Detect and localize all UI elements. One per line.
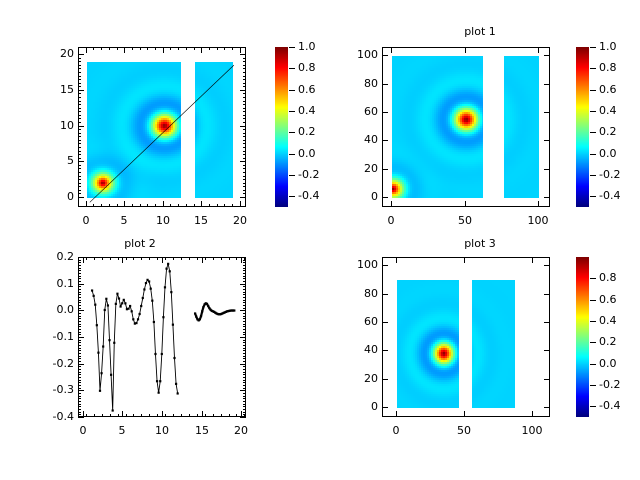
panel-top-right-colorbar <box>576 47 589 207</box>
axis-tick <box>78 286 81 287</box>
axis-tick <box>78 321 81 322</box>
axis-tick <box>78 401 81 402</box>
axis-tick <box>170 204 171 207</box>
tick-label: 0 <box>34 191 74 202</box>
tick-label: 0 <box>338 191 378 202</box>
axis-tick <box>532 411 533 417</box>
axis-tick <box>78 393 81 394</box>
axis-tick <box>78 76 81 77</box>
data-point-marker <box>153 321 155 323</box>
axis-tick <box>465 47 466 53</box>
axis-tick <box>78 47 79 50</box>
axis-tick <box>102 257 103 260</box>
axis-tick <box>590 47 596 48</box>
axis-tick <box>109 204 110 207</box>
colorbar-tick-label: 0.0 <box>599 358 617 369</box>
tick-label: 20 <box>221 425 261 436</box>
data-point-marker <box>161 353 163 355</box>
axis-tick <box>544 197 550 198</box>
axis-tick <box>243 72 246 73</box>
axis-tick <box>140 204 141 207</box>
axis-tick <box>78 364 81 365</box>
axis-tick <box>243 364 246 365</box>
axis-tick <box>243 165 246 166</box>
axis-tick <box>213 257 214 260</box>
axis-tick <box>78 396 81 397</box>
data-point-marker <box>140 305 142 307</box>
tick-label: 0 <box>371 215 411 226</box>
tick-label: 10 <box>143 215 183 226</box>
axis-tick <box>110 257 111 260</box>
tick-label: 5 <box>34 155 74 166</box>
axis-tick <box>243 380 246 381</box>
tick-label: 0.1 <box>34 278 74 289</box>
data-point-marker <box>200 315 202 317</box>
axis-tick <box>240 204 241 207</box>
axis-tick <box>78 404 81 405</box>
axis-tick <box>243 111 246 112</box>
axis-tick <box>243 308 246 309</box>
data-point-marker <box>112 409 114 411</box>
axis-tick <box>78 257 81 258</box>
axis-tick <box>78 140 81 141</box>
data-point-marker <box>145 282 147 284</box>
colorbar-tick-label: 0.4 <box>599 105 617 116</box>
axis-tick <box>243 324 246 325</box>
axis-tick <box>133 257 134 260</box>
axis-tick <box>78 97 81 98</box>
colorbar-tick-label: 1.0 <box>298 41 316 52</box>
colorbar-tick-label: -0.4 <box>599 190 620 201</box>
axis-tick <box>243 374 246 375</box>
colorbar-tick-label: 0.8 <box>599 272 617 283</box>
axis-tick <box>155 47 156 50</box>
data-point-marker <box>206 303 208 305</box>
axis-tick <box>243 318 246 319</box>
colorbar-tick-label: 0.2 <box>599 126 617 137</box>
axis-tick <box>202 257 203 263</box>
axis-tick <box>243 262 246 263</box>
data-point-marker <box>177 392 179 394</box>
axis-tick <box>243 401 246 402</box>
data-point-marker <box>202 306 204 308</box>
axis-tick <box>78 398 81 399</box>
axis-tick <box>243 115 246 116</box>
tick-label: 80 <box>338 78 378 89</box>
axis-tick <box>78 284 81 285</box>
axis-tick <box>590 90 596 91</box>
axis-tick <box>243 361 246 362</box>
axis-tick <box>243 329 246 330</box>
axis-tick <box>78 316 81 317</box>
axis-tick <box>133 414 134 417</box>
axis-tick <box>243 61 246 62</box>
panel-bottom-left-lines <box>79 258 246 417</box>
data-point-marker <box>96 324 98 326</box>
axis-tick <box>243 393 246 394</box>
axis-tick <box>243 313 246 314</box>
axis-tick <box>170 47 171 50</box>
axis-tick <box>78 151 81 152</box>
data-point-marker <box>121 302 123 304</box>
axis-tick <box>78 374 81 375</box>
axis-tick <box>78 161 81 162</box>
axis-tick <box>78 292 81 293</box>
axis-tick <box>590 321 596 322</box>
axis-tick <box>243 406 246 407</box>
axis-tick <box>391 201 392 207</box>
axis-tick <box>217 204 218 207</box>
data-point-marker <box>173 357 175 359</box>
axis-tick <box>382 55 388 56</box>
data-point-marker <box>167 263 169 265</box>
tick-label: -0.1 <box>34 331 74 342</box>
data-point-marker <box>150 288 152 290</box>
panel-top-right: plot 1 050100020406080100 1.00.80.60.40.… <box>320 0 640 240</box>
axis-tick <box>590 342 596 343</box>
axis-tick <box>78 366 81 367</box>
panel-top-right-overlay <box>383 48 550 207</box>
data-point-marker <box>115 303 117 305</box>
axis-tick <box>289 196 295 197</box>
tick-label: 10 <box>142 425 182 436</box>
colorbar-tick-label: 0.4 <box>298 105 316 116</box>
data-line <box>90 65 234 202</box>
axis-tick <box>243 93 246 94</box>
axis-tick <box>243 183 246 184</box>
data-point-marker <box>131 310 133 312</box>
axis-tick <box>221 257 222 260</box>
axis-tick <box>243 350 246 351</box>
axis-tick <box>78 197 81 198</box>
axis-tick <box>78 58 81 59</box>
axis-tick <box>78 115 81 116</box>
data-point-marker <box>233 309 235 311</box>
axis-tick <box>117 204 118 207</box>
axis-tick <box>243 68 246 69</box>
tick-label: 0 <box>63 425 103 436</box>
axis-tick <box>243 270 246 271</box>
tick-label: 40 <box>338 344 378 355</box>
axis-tick <box>173 414 174 417</box>
axis-tick <box>110 414 111 417</box>
axis-tick <box>243 257 246 258</box>
tick-label: 0.0 <box>34 304 74 315</box>
axis-tick <box>532 257 533 263</box>
axis-tick <box>78 262 81 263</box>
data-point-marker <box>164 286 166 288</box>
axis-tick <box>243 358 246 359</box>
axis-tick <box>78 406 81 407</box>
axis-tick <box>78 176 81 177</box>
axis-tick <box>78 158 81 159</box>
axis-tick <box>189 414 190 417</box>
data-point-marker <box>143 288 145 290</box>
panel-top-right-frame <box>382 47 550 207</box>
axis-tick <box>243 316 246 317</box>
axis-tick <box>94 257 95 260</box>
axis-tick <box>86 47 87 50</box>
figure-canvas: 0510152005101520 1.00.80.60.40.20.0-0.2-… <box>0 0 640 480</box>
data-point-marker <box>154 353 156 355</box>
panel-top-left-colorbar-gradient <box>275 47 288 207</box>
panel-bottom-right-colorbar <box>576 257 589 417</box>
axis-tick <box>544 112 550 113</box>
axis-tick <box>78 281 81 282</box>
axis-tick <box>86 204 87 207</box>
axis-tick <box>78 79 81 80</box>
axis-tick <box>590 68 596 69</box>
tick-label: 15 <box>34 84 74 95</box>
panel-bottom-right-overlay <box>383 258 550 417</box>
axis-tick <box>243 104 246 105</box>
axis-tick <box>590 154 596 155</box>
axis-tick <box>391 47 392 53</box>
data-point-marker <box>158 392 160 394</box>
axis-tick <box>118 414 119 417</box>
axis-tick <box>382 197 388 198</box>
axis-tick <box>243 101 246 102</box>
data-point-marker <box>97 352 99 354</box>
axis-tick <box>243 332 246 333</box>
axis-tick <box>78 356 81 357</box>
axis-tick <box>243 151 246 152</box>
axis-tick <box>109 47 110 50</box>
colorbar-tick-label: 0.8 <box>599 62 617 73</box>
colorbar-tick-label: 0.8 <box>298 62 316 73</box>
axis-tick <box>186 47 187 50</box>
axis-tick <box>78 190 81 191</box>
data-point-marker <box>194 312 196 314</box>
axis-tick <box>209 47 210 50</box>
axis-tick <box>186 204 187 207</box>
axis-tick <box>213 414 214 417</box>
axis-tick <box>289 90 295 91</box>
axis-tick <box>243 409 246 410</box>
axis-tick <box>243 278 246 279</box>
data-point-marker <box>94 304 96 306</box>
axis-tick <box>243 353 246 354</box>
data-point-marker <box>108 339 110 341</box>
tick-label: -0.3 <box>34 384 74 395</box>
axis-tick <box>78 68 81 69</box>
tick-label: -0.4 <box>34 411 74 422</box>
axis-tick <box>78 377 81 378</box>
data-point-marker <box>195 316 197 318</box>
axis-tick <box>544 294 550 295</box>
axis-tick <box>78 278 81 279</box>
axis-tick <box>396 411 397 417</box>
colorbar-tick-label: -0.4 <box>298 190 319 201</box>
axis-tick <box>243 334 246 335</box>
axis-tick <box>157 414 158 417</box>
data-point-marker <box>104 309 106 311</box>
tick-label: 5 <box>102 425 142 436</box>
axis-tick <box>149 414 150 417</box>
axis-tick <box>243 310 246 311</box>
data-point-marker <box>165 268 167 270</box>
tick-label: 50 <box>445 215 485 226</box>
axis-tick <box>78 273 81 274</box>
axis-tick <box>78 412 81 413</box>
axis-tick <box>165 257 166 260</box>
data-point-marker <box>99 390 101 392</box>
axis-tick <box>243 197 246 198</box>
data-point-marker <box>105 298 107 300</box>
axis-tick <box>243 260 246 261</box>
axis-tick <box>243 65 246 66</box>
axis-tick <box>243 143 246 144</box>
axis-tick <box>78 265 81 266</box>
tick-label: 100 <box>338 49 378 60</box>
data-point-marker <box>175 383 177 385</box>
axis-tick <box>78 300 81 301</box>
axis-tick <box>243 83 246 84</box>
data-point-marker <box>142 297 144 299</box>
axis-tick <box>78 143 81 144</box>
axis-tick <box>243 179 246 180</box>
axis-tick <box>122 411 123 417</box>
axis-tick <box>78 390 81 391</box>
tick-label: 100 <box>518 215 558 226</box>
data-point-marker <box>113 342 115 344</box>
axis-tick <box>224 204 225 207</box>
axis-tick <box>78 54 81 55</box>
axis-tick <box>78 334 81 335</box>
colorbar-tick-label: 0.0 <box>599 148 617 159</box>
axis-tick <box>78 313 81 314</box>
axis-tick <box>178 47 179 50</box>
panel-bottom-right: plot 3 050100020406080100 0.80.60.40.20.… <box>320 240 640 480</box>
axis-tick <box>243 79 246 80</box>
axis-tick <box>243 404 246 405</box>
axis-tick <box>86 414 87 417</box>
axis-tick <box>78 350 81 351</box>
axis-tick <box>590 111 596 112</box>
axis-tick <box>590 132 596 133</box>
axis-tick <box>382 294 388 295</box>
axis-tick <box>162 411 163 417</box>
axis-tick <box>78 409 81 410</box>
axis-tick <box>147 204 148 207</box>
axis-tick <box>78 154 81 155</box>
axis-tick <box>590 196 596 197</box>
axis-tick <box>289 132 295 133</box>
tick-label: 20 <box>220 215 260 226</box>
tick-label: 60 <box>338 316 378 327</box>
tick-label: 20 <box>34 48 74 59</box>
colorbar-tick-label: -0.2 <box>599 169 620 180</box>
axis-tick <box>78 86 81 87</box>
axis-tick <box>94 414 95 417</box>
axis-tick <box>78 186 81 187</box>
axis-tick <box>544 350 550 351</box>
axis-tick <box>202 411 203 417</box>
axis-tick <box>78 414 81 415</box>
panel-top-right-colorbar-gradient <box>576 47 589 207</box>
axis-tick <box>243 345 246 346</box>
axis-tick <box>78 308 81 309</box>
axis-tick <box>382 379 388 380</box>
axis-tick <box>229 414 230 417</box>
axis-tick <box>132 47 133 50</box>
data-point-marker <box>162 316 164 318</box>
axis-tick <box>78 332 81 333</box>
tick-label: -0.2 <box>34 358 74 369</box>
axis-tick <box>240 47 241 50</box>
data-point-marker <box>100 372 102 374</box>
colorbar-tick-label: 0.4 <box>599 315 617 326</box>
axis-tick <box>243 417 246 418</box>
axis-tick <box>590 300 596 301</box>
axis-tick <box>78 305 81 306</box>
axis-tick <box>243 108 246 109</box>
axis-tick <box>126 414 127 417</box>
axis-tick <box>544 84 550 85</box>
axis-tick <box>181 257 182 260</box>
axis-tick <box>232 204 233 207</box>
axis-tick <box>243 286 246 287</box>
tick-label: 100 <box>512 425 552 436</box>
axis-tick <box>78 93 81 94</box>
axis-tick <box>236 257 237 260</box>
axis-tick <box>78 179 81 180</box>
axis-tick <box>122 257 123 263</box>
axis-tick <box>243 321 246 322</box>
axis-tick <box>78 172 81 173</box>
tick-label: 0.2 <box>34 251 74 262</box>
axis-tick <box>544 265 550 266</box>
axis-tick <box>78 342 81 343</box>
axis-tick <box>118 257 119 260</box>
axis-tick <box>78 168 81 169</box>
panel-bottom-left-title: plot 2 <box>40 238 240 250</box>
axis-tick <box>382 112 388 113</box>
axis-tick <box>243 297 246 298</box>
axis-tick <box>78 369 81 370</box>
panel-top-right-title: plot 1 <box>380 26 580 38</box>
tick-label: 5 <box>104 215 144 226</box>
axis-tick <box>243 300 246 301</box>
axis-tick <box>243 289 246 290</box>
axis-tick <box>78 326 81 327</box>
axis-tick <box>78 165 81 166</box>
axis-tick <box>544 407 550 408</box>
axis-tick <box>178 204 179 207</box>
axis-tick <box>78 270 81 271</box>
axis-tick <box>78 129 81 130</box>
axis-tick <box>243 265 246 266</box>
axis-tick <box>243 366 246 367</box>
axis-tick <box>78 90 81 91</box>
axis-tick <box>243 326 246 327</box>
axis-tick <box>243 172 246 173</box>
axis-tick <box>224 47 225 50</box>
data-point-marker <box>116 293 118 295</box>
axis-tick <box>78 108 81 109</box>
colorbar-tick-label: 0.6 <box>599 84 617 95</box>
data-point-marker <box>207 305 209 307</box>
axis-tick <box>173 257 174 260</box>
axis-tick <box>243 369 246 370</box>
axis-tick <box>78 193 81 194</box>
axis-tick <box>243 398 246 399</box>
data-point-marker <box>172 324 174 326</box>
axis-tick <box>141 414 142 417</box>
axis-tick <box>78 101 81 102</box>
axis-tick <box>289 68 295 69</box>
axis-tick <box>243 86 246 87</box>
